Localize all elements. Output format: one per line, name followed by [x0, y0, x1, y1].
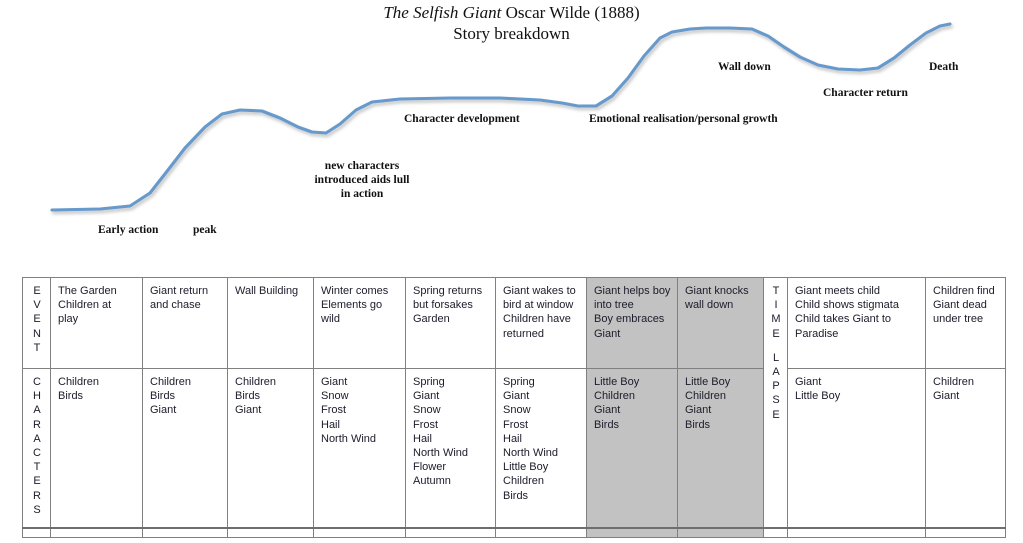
cell-line: Giant return: [150, 284, 221, 298]
event-cell-7: Giant helps boyinto treeBoy embracesGian…: [587, 278, 678, 369]
cell-line: Child shows stigmata: [795, 298, 919, 312]
header-letter: A: [771, 365, 781, 379]
cell-line: Spring: [413, 375, 489, 389]
cell-line: Wall Building: [235, 284, 307, 298]
time-lapse-bottom-letters: LAPSE: [771, 351, 781, 422]
cell-line: Child takes Giant to: [795, 312, 919, 326]
event-cell-5-lines: Spring returnsbut forsakesGarden: [413, 284, 489, 327]
cell-line: Birds: [594, 418, 671, 432]
table-bottom-edge: [22, 527, 1006, 529]
cell-line: Giant: [321, 375, 399, 389]
header-letter: M: [771, 312, 781, 326]
row-header-event: EVENT: [23, 278, 51, 369]
event-cell-1-lines: The GardenChildren atplay: [58, 284, 136, 327]
row-header-event-letters: EVENT: [30, 284, 44, 355]
annotation-early-action: Early action: [98, 223, 158, 237]
cell-line: Spring: [503, 375, 580, 389]
event-cell-9: Giant meets childChild shows stigmataChi…: [788, 278, 926, 369]
row-header-time-lapse: TIME LAPSE: [764, 278, 788, 538]
header-letter: A: [30, 403, 44, 417]
cell-line: Birds: [503, 489, 580, 503]
cell-line: Giant: [594, 327, 671, 341]
cell-line: wall down: [685, 298, 757, 312]
characters-cell-3: ChildrenBirdsGiant: [228, 369, 314, 538]
cell-line: Giant: [150, 403, 221, 417]
cell-line: under tree: [933, 312, 999, 326]
characters-cell-10-lines: ChildrenGiant: [933, 375, 999, 403]
table-row-characters: CHARACTERS ChildrenBirds ChildrenBirdsGi…: [23, 369, 1006, 538]
event-cell-6-lines: Giant wakes tobird at windowChildren hav…: [503, 284, 580, 341]
header-letter: P: [771, 379, 781, 393]
characters-cell-7-lines: Little BoyChildrenGiantBirds: [594, 375, 671, 432]
cell-line: Giant: [594, 403, 671, 417]
cell-line: Giant helps boy: [594, 284, 671, 298]
cell-line: Children: [685, 389, 757, 403]
cell-line: Children have: [503, 312, 580, 326]
cell-line: Children: [235, 375, 307, 389]
header-letter: S: [771, 393, 781, 407]
characters-cell-9: GiantLittle Boy: [788, 369, 926, 538]
header-letter: E: [30, 284, 44, 298]
event-cell-2: Giant returnand chase: [143, 278, 228, 369]
cell-line: Giant: [685, 403, 757, 417]
cell-line: Winter comes: [321, 284, 399, 298]
characters-cell-4-lines: GiantSnowFrostHailNorth Wind: [321, 375, 399, 446]
cell-line: Birds: [235, 389, 307, 403]
cell-line: Autumn: [413, 474, 489, 488]
header-letter: R: [30, 489, 44, 503]
event-cell-9-lines: Giant meets childChild shows stigmataChi…: [795, 284, 919, 341]
cell-line: Elements go: [321, 298, 399, 312]
cell-line: Paradise: [795, 327, 919, 341]
annotation-new-characters: new charactersintroduced aids lullin act…: [298, 159, 426, 201]
header-letter: V: [30, 298, 44, 312]
header-letter: E: [771, 408, 781, 422]
event-cell-10-lines: Children findGiant deadunder tree: [933, 284, 999, 327]
characters-cell-2-lines: ChildrenBirdsGiant: [150, 375, 221, 418]
cell-line: Giant: [503, 389, 580, 403]
cell-line: Garden: [413, 312, 489, 326]
header-letter: T: [771, 284, 781, 298]
annotation-wall-down: Wall down: [718, 60, 771, 74]
cell-line: Giant meets child: [795, 284, 919, 298]
event-cell-2-lines: Giant returnand chase: [150, 284, 221, 312]
story-breakdown-table: EVENT The GardenChildren atplay Giant re…: [22, 277, 1006, 538]
event-cell-4-lines: Winter comesElements gowild: [321, 284, 399, 327]
story-arc-chart: Early action peak new charactersintroduc…: [0, 0, 1023, 262]
characters-cell-1-lines: ChildrenBirds: [58, 375, 136, 403]
cell-line: North Wind: [503, 446, 580, 460]
characters-cell-7: Little BoyChildrenGiantBirds: [587, 369, 678, 538]
cell-line: Birds: [685, 418, 757, 432]
cell-line: The Garden: [58, 284, 136, 298]
characters-cell-3-lines: ChildrenBirdsGiant: [235, 375, 307, 418]
header-letter: I: [771, 298, 781, 312]
row-header-characters-letters: CHARACTERS: [30, 375, 44, 517]
cell-line: Birds: [58, 389, 136, 403]
header-letter: E: [30, 474, 44, 488]
header-letter: R: [30, 418, 44, 432]
cell-line: into tree: [594, 298, 671, 312]
cell-line: Little Boy: [503, 460, 580, 474]
header-letter: C: [30, 375, 44, 389]
table-row-event: EVENT The GardenChildren atplay Giant re…: [23, 278, 1006, 369]
cell-line: Children at: [58, 298, 136, 312]
header-letter: L: [771, 351, 781, 365]
header-letter: E: [771, 327, 781, 341]
time-lapse-spacer: [771, 341, 781, 351]
cell-line: Children find: [933, 284, 999, 298]
characters-cell-5: SpringGiantSnowFrostHailNorth WindFlower…: [406, 369, 496, 538]
time-lapse-top-letters: TIME: [771, 284, 781, 341]
cell-line: Children: [594, 389, 671, 403]
cell-line: wild: [321, 312, 399, 326]
annotation-peak: peak: [193, 223, 217, 237]
characters-cell-2: ChildrenBirdsGiant: [143, 369, 228, 538]
cell-line: Hail: [503, 432, 580, 446]
cell-line: Frost: [321, 403, 399, 417]
cell-line: Children: [150, 375, 221, 389]
cell-line: Giant dead: [933, 298, 999, 312]
header-letter: N: [30, 327, 44, 341]
event-cell-6: Giant wakes tobird at windowChildren hav…: [496, 278, 587, 369]
characters-cell-6-lines: SpringGiantSnowFrostHailNorth WindLittle…: [503, 375, 580, 503]
cell-line: Children: [503, 474, 580, 488]
cell-line: play: [58, 312, 136, 326]
cell-line: Giant: [235, 403, 307, 417]
cell-line: Giant: [413, 389, 489, 403]
cell-line: Little Boy: [594, 375, 671, 389]
event-cell-5: Spring returnsbut forsakesGarden: [406, 278, 496, 369]
annotation-character-development: Character development: [404, 112, 520, 126]
header-letter: T: [30, 460, 44, 474]
cell-line: Spring returns: [413, 284, 489, 298]
cell-line: North Wind: [321, 432, 399, 446]
cell-line: Giant: [795, 375, 919, 389]
characters-cell-1: ChildrenBirds: [51, 369, 143, 538]
characters-cell-5-lines: SpringGiantSnowFrostHailNorth WindFlower…: [413, 375, 489, 489]
header-letter: H: [30, 389, 44, 403]
cell-line: Giant wakes to: [503, 284, 580, 298]
event-cell-4: Winter comesElements gowild: [314, 278, 406, 369]
cell-line: Hail: [413, 432, 489, 446]
cell-line: Children: [933, 375, 999, 389]
cell-line: Frost: [503, 418, 580, 432]
annotation-character-return: Character return: [823, 86, 908, 100]
cell-line: and chase: [150, 298, 221, 312]
header-letter: C: [30, 446, 44, 460]
cell-line: Boy embraces: [594, 312, 671, 326]
characters-cell-6: SpringGiantSnowFrostHailNorth WindLittle…: [496, 369, 587, 538]
characters-cell-8: Little BoyChildrenGiantBirds: [678, 369, 764, 538]
event-cell-10: Children findGiant deadunder tree: [926, 278, 1006, 369]
event-cell-3-lines: Wall Building: [235, 284, 307, 298]
cell-line: bird at window: [503, 298, 580, 312]
event-cell-3: Wall Building: [228, 278, 314, 369]
row-header-characters: CHARACTERS: [23, 369, 51, 538]
cell-line: Hail: [321, 418, 399, 432]
cell-line: Birds: [150, 389, 221, 403]
cell-line: returned: [503, 327, 580, 341]
header-letter: A: [30, 432, 44, 446]
cell-line: Children: [58, 375, 136, 389]
annotation-emotional-realisation: Emotional realisation/personal growth: [589, 112, 778, 126]
event-cell-8: Giant knockswall down: [678, 278, 764, 369]
cell-line: North Wind: [413, 446, 489, 460]
characters-cell-8-lines: Little BoyChildrenGiantBirds: [685, 375, 757, 432]
cell-line: Little Boy: [795, 389, 919, 403]
event-cell-8-lines: Giant knockswall down: [685, 284, 757, 312]
event-cell-7-lines: Giant helps boyinto treeBoy embracesGian…: [594, 284, 671, 341]
cell-line: Little Boy: [685, 375, 757, 389]
cell-line: Giant: [933, 389, 999, 403]
cell-line: Snow: [321, 389, 399, 403]
cell-line: Snow: [413, 403, 489, 417]
characters-cell-9-lines: GiantLittle Boy: [795, 375, 919, 403]
cell-line: but forsakes: [413, 298, 489, 312]
characters-cell-10: ChildrenGiant: [926, 369, 1006, 538]
cell-line: Flower: [413, 460, 489, 474]
header-letter: S: [30, 503, 44, 517]
annotation-death: Death: [929, 60, 958, 74]
event-cell-1: The GardenChildren atplay: [51, 278, 143, 369]
cell-line: Snow: [503, 403, 580, 417]
cell-line: Frost: [413, 418, 489, 432]
cell-line: Giant knocks: [685, 284, 757, 298]
characters-cell-4: GiantSnowFrostHailNorth Wind: [314, 369, 406, 538]
header-letter: T: [30, 341, 44, 355]
header-letter: E: [30, 312, 44, 326]
